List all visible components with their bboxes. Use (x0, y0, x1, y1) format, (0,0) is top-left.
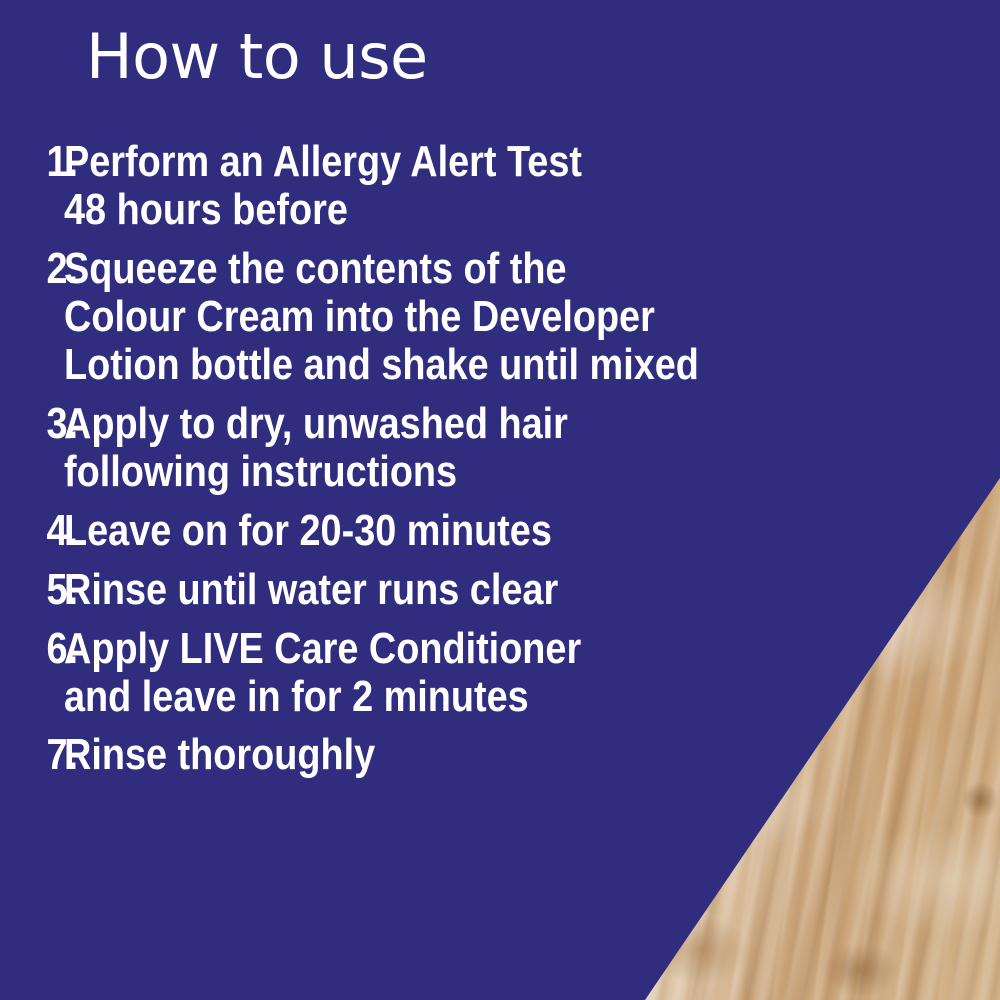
step-text: Perform an Allergy Alert Test 48 hours b… (64, 138, 835, 234)
step-text: Squeeze the contents of the Colour Cream… (64, 245, 835, 389)
step-number: 3. (0, 400, 55, 448)
step-text: Apply LIVE Care Conditioner and leave in… (64, 625, 835, 721)
list-item: 1. Perform an Allergy Alert Test 48 hour… (0, 138, 960, 234)
list-item: 4. Leave on for 20-30 minutes (0, 507, 960, 555)
step-number: 7. (0, 731, 55, 779)
list-item: 6. Apply LIVE Care Conditioner and leave… (0, 625, 960, 721)
step-number: 1. (0, 138, 55, 186)
step-text: Rinse until water runs clear (64, 566, 835, 614)
step-text: Leave on for 20-30 minutes (64, 507, 835, 555)
step-number: 4. (0, 507, 55, 555)
step-number: 2. (0, 245, 55, 293)
steps-list: 1. Perform an Allergy Alert Test 48 hour… (0, 138, 960, 790)
step-number: 5. (0, 566, 55, 614)
page-title: How to use (86, 26, 428, 88)
step-text: Apply to dry, unwashed hair following in… (64, 400, 835, 496)
list-item: 5. Rinse until water runs clear (0, 566, 960, 614)
step-text: Rinse thoroughly (64, 731, 835, 779)
how-to-use-panel: How to use 1. Perform an Allergy Alert T… (0, 0, 1000, 1000)
list-item: 2. Squeeze the contents of the Colour Cr… (0, 245, 960, 389)
step-number: 6. (0, 625, 55, 673)
list-item: 7. Rinse thoroughly (0, 731, 960, 779)
list-item: 3. Apply to dry, unwashed hair following… (0, 400, 960, 496)
